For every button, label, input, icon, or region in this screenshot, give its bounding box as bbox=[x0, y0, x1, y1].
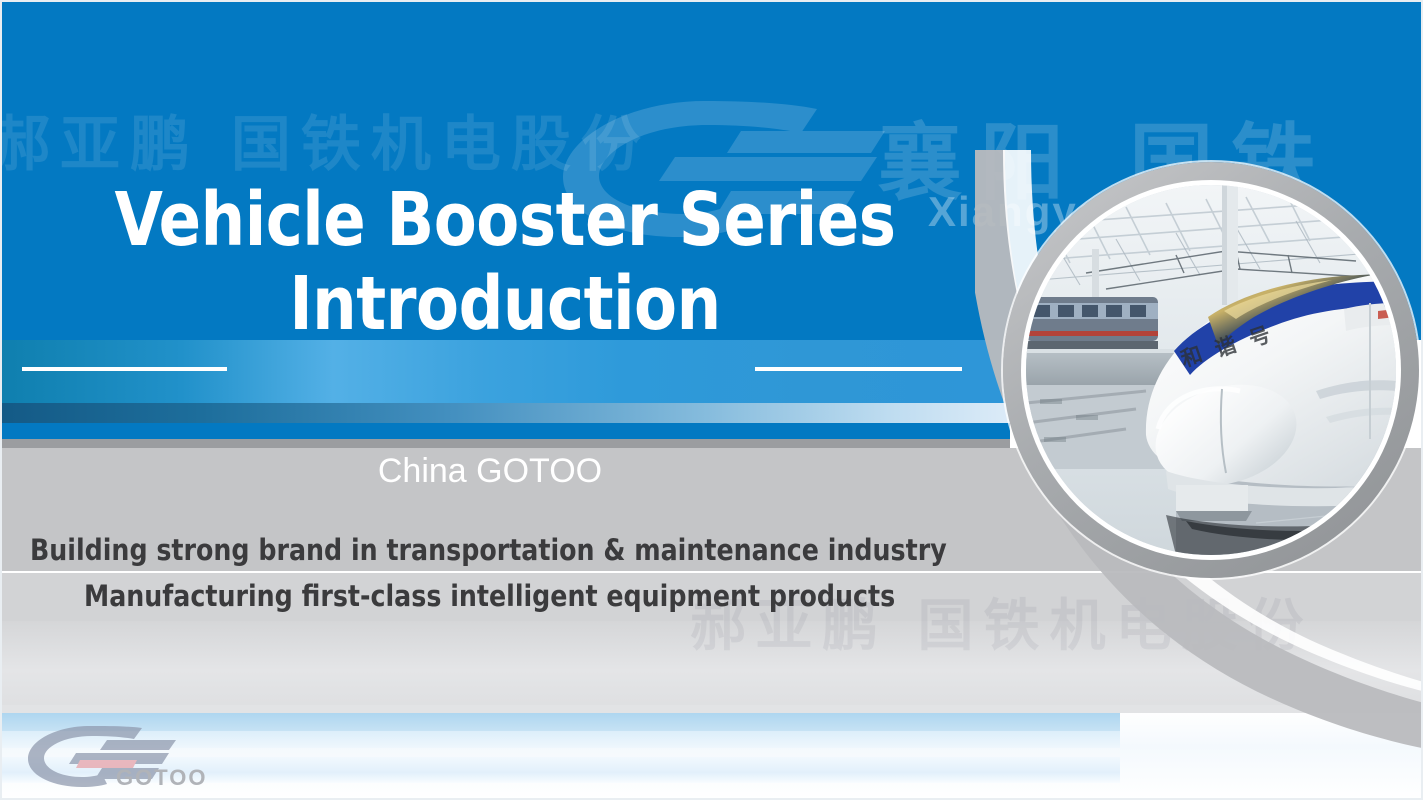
title-line-1: Vehicle Booster Series bbox=[30, 178, 979, 262]
divider-rule-left bbox=[22, 367, 227, 371]
divider-dark-band bbox=[0, 403, 1010, 423]
panel-fade: 郝亚鹏 国铁机电股份 bbox=[0, 621, 1423, 711]
tagline-2: Manufacturing first-class intelligent eq… bbox=[84, 579, 895, 613]
watermark-company-cn-1: 郝亚鹏 国铁机电股份 bbox=[0, 96, 651, 183]
subtitle: China GOTOO bbox=[0, 452, 980, 491]
divider-gradient-band bbox=[0, 340, 1010, 403]
divider-gray-band bbox=[0, 439, 1010, 448]
gotoo-logo: GOTOO bbox=[18, 723, 208, 791]
train-photo: 和 谐 号 bbox=[1026, 185, 1396, 555]
tagline-1: Building strong brand in transportation … bbox=[30, 533, 947, 567]
train-photo-frame: 和 谐 号 bbox=[1003, 162, 1419, 578]
divider-solid-band bbox=[0, 423, 1010, 439]
divider-rule-right bbox=[755, 367, 962, 371]
presentation-slide: 郝亚鹏 国铁机电股份 郝亚鹏 国铁机电股份 襄阳 国铁 Xiangyang Ve… bbox=[0, 0, 1423, 800]
page-title: Vehicle Booster Series Introduction bbox=[0, 178, 1010, 346]
title-line-2: Introduction bbox=[30, 262, 979, 346]
reflection-top-edge bbox=[0, 705, 1423, 713]
logo-wordmark: GOTOO bbox=[116, 765, 208, 790]
